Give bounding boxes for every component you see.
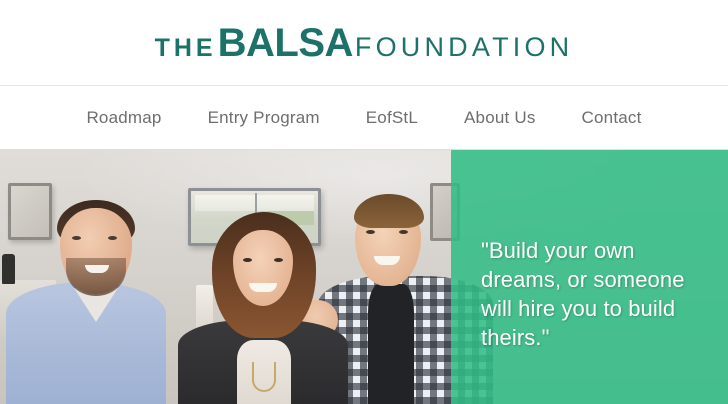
logo-balsa: BALSA bbox=[218, 23, 353, 63]
person-center-eye-right bbox=[274, 258, 283, 262]
person-center-necklace bbox=[252, 362, 276, 392]
main-navigation: Roadmap Entry Program EofStL About Us Co… bbox=[0, 86, 728, 150]
person-left-eye-left bbox=[72, 236, 81, 240]
person-right-hair bbox=[354, 194, 424, 228]
hero-carousel: "Build your own dreams, or someone will … bbox=[0, 150, 728, 404]
person-right-eye-left bbox=[366, 230, 375, 234]
person-center-eye-left bbox=[243, 258, 252, 262]
site-logo[interactable]: THE BALSA FOUNDATION bbox=[155, 23, 574, 63]
background-candle-a bbox=[196, 285, 213, 329]
person-left-eye-right bbox=[108, 236, 117, 240]
person-right-eye-right bbox=[399, 230, 408, 234]
nav-item-eofstl[interactable]: EofStL bbox=[366, 108, 418, 128]
nav-item-roadmap[interactable]: Roadmap bbox=[86, 108, 161, 128]
nav-item-entry-program[interactable]: Entry Program bbox=[208, 108, 320, 128]
wall-frame-left bbox=[8, 183, 52, 240]
logo-the: THE bbox=[155, 36, 217, 61]
nav-item-contact[interactable]: Contact bbox=[582, 108, 642, 128]
hero-quote-text: "Build your own dreams, or someone will … bbox=[481, 236, 710, 352]
person-right-tshirt bbox=[368, 284, 414, 404]
background-bottle bbox=[2, 254, 15, 284]
window-sky bbox=[195, 195, 314, 211]
site-header: THE BALSA FOUNDATION bbox=[0, 0, 728, 86]
logo-foundation: FOUNDATION bbox=[355, 34, 574, 61]
nav-item-about-us[interactable]: About Us bbox=[464, 108, 536, 128]
hero-green-overlay: "Build your own dreams, or someone will … bbox=[451, 150, 728, 404]
